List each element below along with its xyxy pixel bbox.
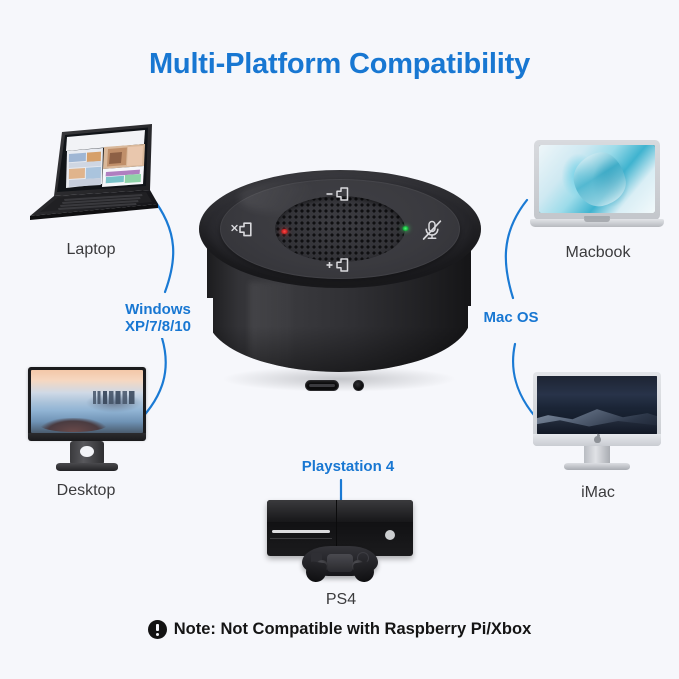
imac-base [564, 463, 630, 470]
caption-imac: iMac [532, 484, 664, 502]
console-panel-line [270, 538, 332, 539]
infographic-canvas: Multi-Platform Compatibility [0, 0, 679, 679]
monitor-bezel [28, 367, 146, 439]
game-controller [302, 542, 378, 582]
caption-macbook: Macbook [532, 244, 664, 262]
volume-down-icon[interactable] [326, 187, 354, 201]
monitor-wallpaper [31, 370, 143, 433]
macbook-screen [539, 145, 655, 213]
imac-neck [584, 446, 610, 464]
caption-desktop: Desktop [20, 482, 152, 500]
imac-chin [533, 434, 661, 446]
monitor-chin [28, 433, 146, 441]
os-label-windows-line2: XP/7/8/10 [108, 318, 208, 335]
os-label-windows: Windows XP/7/8/10 [103, 298, 213, 338]
monitor-cable-hole [80, 446, 94, 457]
os-label-windows-line1: Windows [108, 301, 208, 318]
controller-touchpad [327, 554, 353, 572]
macbook-front-notch [584, 219, 610, 222]
console-top-panel [267, 500, 413, 522]
os-label-macos: Mac OS [468, 306, 554, 329]
macbook-lid [534, 140, 660, 220]
speaker-mute-icon[interactable] [231, 222, 257, 237]
os-label-playstation: Playstation 4 [263, 455, 433, 478]
exclamation-icon [148, 620, 167, 639]
imac-body [533, 372, 661, 446]
product-image-speakerphone [199, 170, 481, 415]
controller-right-grip [353, 561, 376, 584]
wallpaper-rocks [40, 418, 107, 432]
caption-ps4: PS4 [271, 591, 411, 609]
device-image-imac [533, 372, 661, 476]
usb-c-port-icon [305, 380, 339, 391]
speaker-side-highlight [249, 282, 297, 372]
monitor-base [56, 463, 118, 471]
imac-screen [537, 376, 657, 434]
volume-up-icon[interactable] [326, 258, 354, 272]
audio-jack-port-icon [353, 380, 364, 391]
mic-mute-icon[interactable] [421, 219, 443, 241]
speaker-top-glint [239, 182, 339, 214]
device-image-ps4 [267, 500, 413, 584]
caption-laptop: Laptop [25, 241, 157, 259]
status-led-green [402, 226, 409, 231]
controller-left-grip [305, 561, 328, 584]
compatibility-note-text: Note: Not Compatible with Raspberry Pi/X… [174, 620, 532, 639]
device-image-macbook [530, 140, 664, 236]
status-led-red [281, 229, 288, 234]
console-power-logo [385, 530, 395, 540]
console-disc-slot [272, 530, 330, 533]
compatibility-note: Note: Not Compatible with Raspberry Pi/X… [0, 620, 679, 639]
speaker-top-plate [199, 170, 481, 288]
wallpaper-skyline [93, 391, 140, 404]
apple-logo-icon [594, 436, 601, 443]
device-image-laptop [24, 120, 160, 230]
device-image-desktop [28, 367, 146, 477]
